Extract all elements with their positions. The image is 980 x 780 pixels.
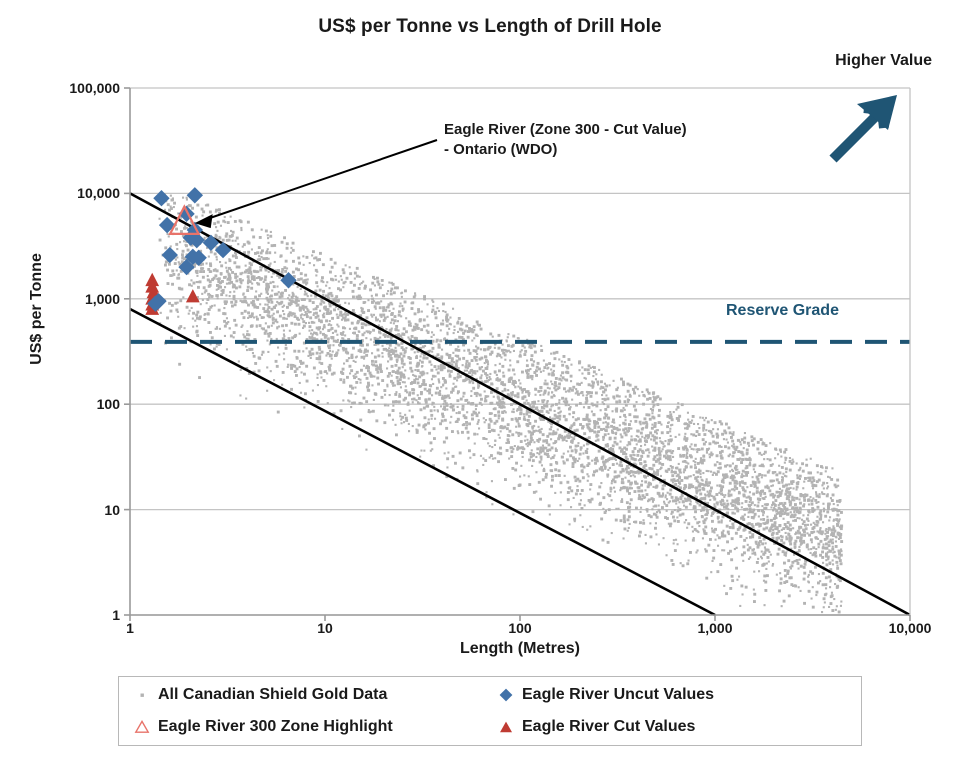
scatter-point (281, 384, 283, 386)
scatter-point (543, 469, 546, 472)
scatter-point (267, 311, 270, 314)
scatter-point (401, 416, 404, 419)
scatter-point (761, 476, 763, 478)
scatter-point (402, 310, 404, 312)
scatter-point (290, 252, 292, 254)
scatter-point (457, 432, 459, 434)
scatter-point (300, 288, 302, 290)
scatter-point (827, 486, 829, 488)
scatter-point (555, 384, 558, 387)
scatter-point (480, 328, 483, 331)
scatter-point (282, 310, 284, 312)
scatter-point (484, 421, 486, 423)
scatter-point (614, 437, 617, 440)
scatter-point (499, 452, 502, 455)
scatter-point (519, 476, 521, 478)
scatter-point (251, 314, 254, 317)
scatter-point (647, 391, 649, 393)
scatter-point (405, 419, 408, 422)
scatter-point (428, 360, 431, 363)
scatter-point (350, 369, 353, 372)
scatter-point (310, 357, 312, 359)
scatter-point (807, 576, 809, 578)
scatter-point (324, 370, 327, 373)
scatter-point (666, 498, 668, 500)
scatter-point (252, 236, 255, 239)
scatter-point (500, 382, 502, 384)
scatter-point (840, 527, 843, 530)
scatter-point (322, 294, 324, 296)
scatter-point (572, 465, 575, 468)
scatter-point (712, 474, 714, 476)
scatter-point (462, 379, 465, 382)
scatter-point (511, 418, 514, 421)
scatter-point (511, 467, 514, 470)
scatter-point (666, 425, 669, 428)
scatter-point (341, 319, 343, 321)
scatter-point (432, 309, 435, 312)
scatter-point (552, 364, 555, 367)
scatter-point (446, 320, 449, 323)
scatter-point (427, 303, 429, 305)
scatter-point (364, 350, 367, 353)
scatter-point (619, 416, 621, 418)
scatter-point (353, 309, 355, 311)
scatter-point (581, 373, 583, 375)
scatter-point (779, 488, 781, 490)
scatter-point (573, 497, 575, 499)
scatter-point (724, 494, 726, 496)
scatter-point (625, 456, 627, 458)
scatter-point (612, 421, 614, 423)
scatter-point (481, 374, 483, 376)
scatter-point (510, 403, 513, 406)
scatter-point (684, 427, 686, 429)
scatter-point (783, 581, 786, 584)
scatter-point (445, 402, 448, 405)
scatter-point (561, 361, 563, 363)
scatter-point (295, 296, 297, 298)
scatter-point (504, 359, 506, 361)
scatter-point (530, 437, 533, 440)
scatter-point (232, 240, 234, 242)
scatter-point (322, 328, 324, 330)
scatter-point (171, 283, 174, 286)
scatter-point (247, 221, 250, 224)
scatter-point (177, 316, 179, 318)
scatter-point (392, 405, 394, 407)
scatter-point (731, 512, 734, 515)
scatter-point (652, 479, 654, 481)
scatter-point (540, 386, 543, 389)
scatter-point (548, 362, 551, 365)
scatter-point (781, 466, 784, 469)
scatter-point (543, 447, 546, 450)
scatter-point (602, 496, 605, 499)
scatter-point (604, 511, 607, 514)
scatter-point (735, 472, 738, 475)
scatter-point (796, 517, 798, 519)
scatter-point (585, 397, 588, 400)
scatter-point (698, 433, 701, 436)
scatter-point (492, 336, 494, 338)
scatter-point (723, 430, 726, 433)
scatter-point (835, 545, 838, 548)
scatter-point (446, 457, 449, 460)
scatter-point (366, 343, 369, 346)
scatter-point (687, 419, 689, 421)
scatter-point (305, 322, 307, 324)
scatter-point (343, 349, 345, 351)
scatter-point (306, 315, 309, 318)
scatter-point (745, 474, 748, 477)
scatter-point (811, 598, 813, 600)
scatter-point (579, 423, 582, 426)
scatter-point (631, 487, 633, 489)
scatter-point (710, 487, 713, 490)
scatter-point (497, 397, 500, 400)
scatter-point (382, 294, 385, 297)
scatter-point (377, 371, 380, 374)
scatter-point (597, 418, 600, 421)
scatter-point (400, 372, 403, 375)
scatter-point (274, 261, 276, 263)
scatter-point (421, 374, 423, 376)
scatter-point (306, 347, 308, 349)
scatter-point (726, 439, 728, 441)
scatter-point (696, 430, 699, 433)
scatter-point (625, 419, 627, 421)
scatter-point (216, 256, 218, 258)
scatter-point (828, 503, 831, 506)
scatter-point (376, 277, 379, 280)
scatter-point (530, 455, 533, 458)
scatter-point (188, 204, 190, 206)
scatter-point (230, 301, 233, 304)
scatter-point (403, 327, 406, 330)
scatter-point (634, 438, 637, 441)
scatter-point (220, 264, 223, 267)
scatter-point (784, 575, 787, 578)
scatter-point (246, 289, 249, 292)
scatter-point (741, 506, 743, 508)
scatter-point (241, 324, 243, 326)
scatter-point (816, 520, 819, 523)
scatter-point (524, 440, 526, 442)
scatter-point (488, 423, 491, 426)
scatter-point (219, 282, 221, 284)
scatter-point (433, 406, 435, 408)
scatter-point (316, 352, 319, 355)
scatter-point (575, 418, 578, 421)
scatter-point (423, 407, 426, 410)
scatter-point (587, 480, 589, 482)
scatter-point (549, 387, 551, 389)
scatter-point (256, 306, 259, 309)
scatter-point (706, 450, 708, 452)
scatter-point (816, 464, 819, 467)
scatter-point (319, 252, 322, 255)
scatter-point (602, 539, 605, 542)
scatter-point (693, 516, 695, 518)
scatter-point (732, 470, 734, 472)
scatter-point (646, 511, 648, 513)
scatter-point (628, 492, 631, 495)
scatter-point (620, 450, 623, 453)
scatter-point (259, 314, 261, 316)
scatter-point (624, 528, 627, 531)
scatter-point (441, 397, 444, 400)
scatter-point (473, 370, 476, 373)
scatter-point (453, 332, 455, 334)
scatter-point (625, 404, 628, 407)
scatter-point (364, 332, 366, 334)
scatter-point (794, 542, 797, 545)
scatter-point (513, 411, 515, 413)
scatter-point (647, 448, 650, 451)
scatter-point (465, 421, 468, 424)
scatter-point (818, 495, 821, 498)
scatter-point (411, 302, 413, 304)
scatter-point (369, 372, 372, 375)
scatter-point (770, 519, 773, 522)
scatter-point (720, 489, 723, 492)
scatter-point (270, 301, 273, 304)
scatter-point (342, 381, 345, 384)
scatter-point (305, 365, 308, 368)
scatter-point (322, 333, 325, 336)
scatter-point (266, 291, 269, 294)
scatter-point (486, 366, 488, 368)
scatter-point (507, 344, 510, 347)
scatter-point (702, 427, 705, 430)
scatter-point (568, 358, 571, 361)
scatter-point (528, 475, 530, 477)
scatter-point (665, 453, 667, 455)
scatter-point (231, 271, 234, 274)
scatter-point (188, 283, 191, 286)
scatter-point (309, 325, 312, 328)
scatter-point (408, 393, 411, 396)
scatter-point (556, 463, 558, 465)
scatter-point (569, 427, 572, 430)
scatter-point (196, 334, 199, 337)
scatter-point (581, 489, 584, 492)
scatter-point (443, 365, 445, 367)
scatter-point (376, 302, 378, 304)
scatter-point (533, 430, 536, 433)
scatter-point (702, 424, 705, 427)
scatter-point (663, 537, 665, 539)
scatter-point (190, 279, 192, 281)
scatter-point (329, 287, 331, 289)
scatter-point (834, 484, 837, 487)
scatter-point (619, 489, 621, 491)
scatter-point (763, 458, 765, 460)
scatter-point (710, 452, 712, 454)
scatter-point (812, 546, 815, 549)
scatter-point (756, 505, 759, 508)
scatter-point (303, 264, 305, 266)
scatter-point (784, 462, 786, 464)
scatter-point (711, 515, 713, 517)
scatter-point (468, 422, 471, 425)
scatter-point (727, 442, 729, 444)
scatter-point (573, 518, 576, 521)
scatter-point (628, 510, 631, 513)
scatter-point (364, 285, 366, 287)
scatter-point (721, 519, 723, 521)
scatter-point (564, 398, 567, 401)
scatter-point (432, 347, 435, 350)
scatter-point (356, 334, 359, 337)
scatter-point (641, 391, 643, 393)
scatter-point (808, 534, 811, 537)
scatter-point (740, 461, 743, 464)
scatter-point (760, 438, 763, 441)
scatter-point (583, 466, 586, 469)
scatter-point (436, 387, 439, 390)
scatter-point (515, 426, 517, 428)
scatter-point (634, 420, 637, 423)
scatter-point (706, 470, 708, 472)
scatter-point (392, 385, 394, 387)
scatter-point (558, 469, 561, 472)
scatter-point (342, 286, 344, 288)
scatter-point (306, 256, 309, 259)
scatter-point (716, 493, 718, 495)
scatter-point (588, 364, 591, 367)
scatter-point (344, 302, 346, 304)
scatter-point (815, 502, 817, 504)
scatter-point (831, 499, 834, 502)
scatter-point (270, 338, 272, 340)
scatter-point (494, 444, 496, 446)
scatter-point (331, 358, 333, 360)
scatter-point (510, 392, 513, 395)
scatter-point (244, 296, 247, 299)
scatter-point (612, 396, 615, 399)
scatter-point (699, 504, 702, 507)
scatter-point (399, 412, 401, 414)
scatter-point (418, 375, 421, 378)
scatter-point (533, 425, 535, 427)
scatter-point (597, 430, 600, 433)
scatter-point (625, 448, 628, 451)
scatter-point (283, 236, 286, 239)
scatter-point (729, 526, 732, 529)
scatter-point (400, 303, 402, 305)
scatter-point (408, 324, 410, 326)
scatter-point (564, 475, 566, 477)
scatter-point (681, 403, 684, 406)
scatter-point (736, 481, 738, 483)
scatter-point (392, 409, 395, 412)
scatter-point (411, 335, 414, 338)
scatter-point (542, 445, 544, 447)
scatter-point (349, 400, 351, 402)
scatter-point (630, 475, 632, 477)
scatter-point (291, 296, 294, 299)
scatter-point (568, 413, 570, 415)
scatter-point (679, 496, 682, 499)
scatter-point (270, 281, 272, 283)
scatter-point (476, 433, 478, 435)
scatter-point (692, 434, 695, 437)
scatter-point (375, 319, 378, 322)
scatter-point (159, 218, 161, 220)
scatter-point (245, 346, 247, 348)
scatter-point (726, 525, 729, 528)
scatter-point (700, 510, 702, 512)
scatter-point (558, 383, 561, 386)
scatter-point (523, 353, 526, 356)
scatter-point (761, 510, 763, 512)
scatter-point (641, 436, 643, 438)
scatter-point (298, 323, 301, 326)
scatter-point (425, 398, 428, 401)
scatter-point (339, 311, 342, 314)
scatter-point (724, 445, 727, 448)
scatter-point (658, 454, 661, 457)
scatter-point (451, 430, 454, 433)
scatter-point (602, 391, 605, 394)
scatter-point (259, 236, 262, 239)
scatter-point (554, 468, 557, 471)
scatter-point (754, 554, 756, 556)
scatter-point (523, 402, 526, 405)
scatter-point (264, 278, 267, 281)
scatter-point (382, 314, 384, 316)
scatter-point (627, 530, 629, 532)
scatter-point (545, 363, 548, 366)
scatter-point (215, 226, 217, 228)
scatter-point (781, 479, 784, 482)
scatter-point (373, 314, 375, 316)
scatter-point (741, 502, 743, 504)
scatter-point (223, 276, 226, 279)
scatter-point (800, 509, 802, 511)
scatter-point (630, 439, 633, 442)
scatter-point (729, 520, 731, 522)
scatter-point (698, 525, 700, 527)
scatter-point (803, 602, 806, 605)
scatter-point (209, 331, 212, 334)
scatter-point (509, 364, 511, 366)
scatter-point (296, 317, 299, 320)
scatter-point (648, 436, 650, 438)
scatter-point (796, 489, 798, 491)
scatter-point (791, 498, 794, 501)
scatter-point (742, 593, 744, 595)
scatter-point (546, 442, 548, 444)
scatter-point (498, 417, 500, 419)
scatter-point (797, 510, 800, 513)
scatter-point (609, 467, 611, 469)
scatter-point (359, 349, 361, 351)
scatter-point (795, 497, 798, 500)
scatter-point (476, 353, 478, 355)
scatter-point (615, 459, 617, 461)
scatter-point (578, 383, 581, 386)
scatter-point (524, 435, 526, 437)
scatter-point (421, 361, 424, 364)
scatter-point (832, 559, 834, 561)
scatter-point (603, 464, 606, 467)
scatter-point (512, 335, 515, 338)
scatter-point (542, 433, 545, 436)
scatter-point (828, 544, 831, 547)
